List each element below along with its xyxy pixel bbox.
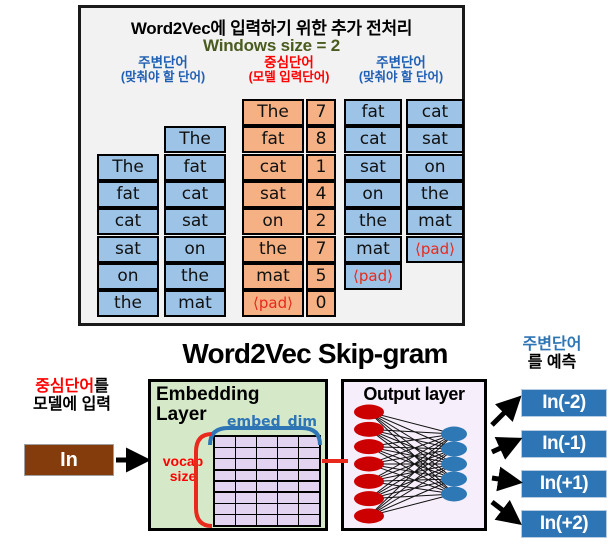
embedding-matrix-cell [299,515,319,525]
panel-subtitle: Windows size = 2 [81,36,462,56]
embedding-matrix-cell [257,515,277,525]
table-cell-center-word-0: The [242,99,304,126]
embedding-matrix-cell [278,471,298,481]
embedding-matrix-cell [278,437,298,447]
table-cell-center-id-6: 5 [306,263,336,290]
column-header-context-right: 주변단어 (맞춰야 할 단어) [339,56,463,84]
embedding-matrix-cell [215,448,235,458]
output-word-box-minus1: In(-1) [521,430,607,458]
embedding-matrix-cell [257,448,277,458]
embedding-matrix-cell [257,504,277,514]
embedding-matrix-cell [257,493,277,503]
input-caption-rest: 를 [94,378,109,395]
embedding-matrix-cell [215,437,235,447]
output-arrow-1 [492,440,518,452]
preprocessing-panel: Word2Vec에 입력하기 위한 추가 전처리 Windows size = … [78,5,465,326]
embedding-label-line1: Embedding [156,384,259,405]
column-header-line1: 중심단어 [237,56,341,71]
embedding-matrix-grid [213,435,321,527]
table-cell-context-plus2-3: the [406,181,464,208]
embedding-matrix-cell [278,515,298,525]
embedding-matrix-cell [299,459,319,469]
table-cell-context-plus1-1: cat [344,126,402,153]
predict-caption-highlight: 주변단어 [523,336,582,353]
input-word-box: In [24,444,114,476]
table-cell-context-plus2-0: cat [406,99,464,126]
output-arrow-2 [492,478,518,482]
table-cell-context-minus2-7: the [97,290,159,317]
table-cell-context-minus1-5: on [164,236,226,263]
embedding-matrix-cell [299,471,319,481]
embedding-matrix-cell [236,515,256,525]
table-cell-context-plus1-4: the [344,208,402,235]
diagram-title: Word2Vec Skip-gram [150,338,480,370]
column-header-center-word: 중심단어 (모델 입력단어) [237,56,341,84]
table-cell-context-plus2-5: ⟨pad⟩ [406,236,464,263]
embedding-matrix-cell [215,515,235,525]
embedding-label-line2: Layer [156,404,207,425]
table-cell-context-minus2-3: fat [97,181,159,208]
output-layer-box: Output layer [341,379,487,531]
table-cell-context-plus2-2: on [406,154,464,181]
table-cell-center-word-6: mat [242,263,304,290]
table-cell-context-plus2-1: sat [406,126,464,153]
output-word-box-plus2: In(+2) [521,510,607,538]
embedding-matrix-cell [215,504,235,514]
vocab-label-line1: vocab [163,453,203,469]
embedding-matrix-cell [236,459,256,469]
vocab-label-line2: size [170,468,196,484]
embedding-matrix-cell [215,471,235,481]
embedding-matrix-cell [278,482,298,492]
table-cell-center-word-7: ⟨pad⟩ [242,290,304,317]
table-cell-context-plus1-5: mat [344,236,402,263]
embedding-matrix-cell [278,459,298,469]
table-cell-context-minus2-5: sat [97,236,159,263]
table-cell-center-word-1: fat [242,126,304,153]
output-arrow-0 [492,399,518,425]
embedding-matrix-cell [278,504,298,514]
column-header-line1: 주변단어 [89,56,237,71]
table-cell-center-id-3: 4 [306,181,336,208]
column-header-line2: (모델 입력단어) [237,71,341,85]
table-cell-context-minus1-2: fat [164,154,226,181]
column-header-context-left: 주변단어 (맞춰야 할 단어) [89,56,237,84]
predict-caption: 주변단어 를 예측 [492,336,612,373]
table-cell-center-id-2: 1 [306,154,336,181]
table-cell-context-minus1-4: sat [164,208,226,235]
column-header-line2: (맞춰야 할 단어) [89,71,237,85]
vocab-size-label: vocab size [157,454,209,485]
embedding-matrix-cell [257,482,277,492]
embedding-matrix-cell [278,493,298,503]
embedding-matrix-cell [257,471,277,481]
output-word-box-plus1: In(+1) [521,470,607,498]
embedding-matrix-cell [278,448,298,458]
input-caption: 중심단어를 모델에 입력 [2,378,142,415]
embedding-matrix-cell [257,437,277,447]
column-header-line2: (맞춰야 할 단어) [339,71,463,85]
embedding-matrix-cell [299,448,319,458]
table-cell-center-id-0: 7 [306,99,336,126]
embedding-matrix-cell [215,482,235,492]
output-arrow-3 [492,502,518,522]
table-cell-center-word-3: sat [242,181,304,208]
embedding-matrix-cell [236,471,256,481]
table-cell-context-minus2-2: The [97,154,159,181]
table-cell-context-minus1-3: cat [164,181,226,208]
column-header-line1: 주변단어 [339,56,463,71]
output-layer-label: Output layer [344,384,484,405]
input-caption-line2: 모델에 입력 [33,396,111,413]
embedding-matrix-cell [215,459,235,469]
table-cell-context-minus2-4: cat [97,208,159,235]
table-cell-context-plus1-2: sat [344,154,402,181]
embedding-matrix-cell [236,482,256,492]
table-cell-context-minus1-6: the [164,263,226,290]
table-cell-context-minus1-1: The [164,126,226,153]
embedding-matrix-cell [236,504,256,514]
embed-dim-label: embed_dim [217,414,327,430]
embedding-matrix-cell [215,493,235,503]
embedding-matrix-cell [257,459,277,469]
table-cell-context-minus1-7: mat [164,290,226,317]
embedding-layer-box: Embedding Layer embed_dim vocab size [148,379,328,531]
table-cell-center-word-5: the [242,236,304,263]
table-cell-center-id-7: 0 [306,290,336,317]
table-cell-center-word-2: cat [242,154,304,181]
output-word-box-minus2: In(-2) [521,389,607,417]
table-cell-context-plus1-0: fat [344,99,402,126]
predict-caption-line2: 를 예측 [528,354,577,371]
table-cell-context-plus1-3: on [344,181,402,208]
table-cell-context-plus1-6: ⟨pad⟩ [344,263,402,290]
embedding-matrix-cell [236,448,256,458]
input-caption-highlight: 중심단어 [35,378,94,395]
table-cell-center-id-1: 8 [306,126,336,153]
embedding-matrix-cell [236,493,256,503]
embedding-matrix-cell [299,493,319,503]
table-cell-center-id-4: 2 [306,208,336,235]
table-cell-center-id-5: 7 [306,236,336,263]
table-cell-context-minus2-6: on [97,263,159,290]
embedding-matrix-cell [299,437,319,447]
embedding-matrix-cell [299,482,319,492]
table-cell-center-word-4: on [242,208,304,235]
embedding-matrix-cell [299,504,319,514]
embedding-matrix-cell [236,437,256,447]
table-cell-context-plus2-4: mat [406,208,464,235]
